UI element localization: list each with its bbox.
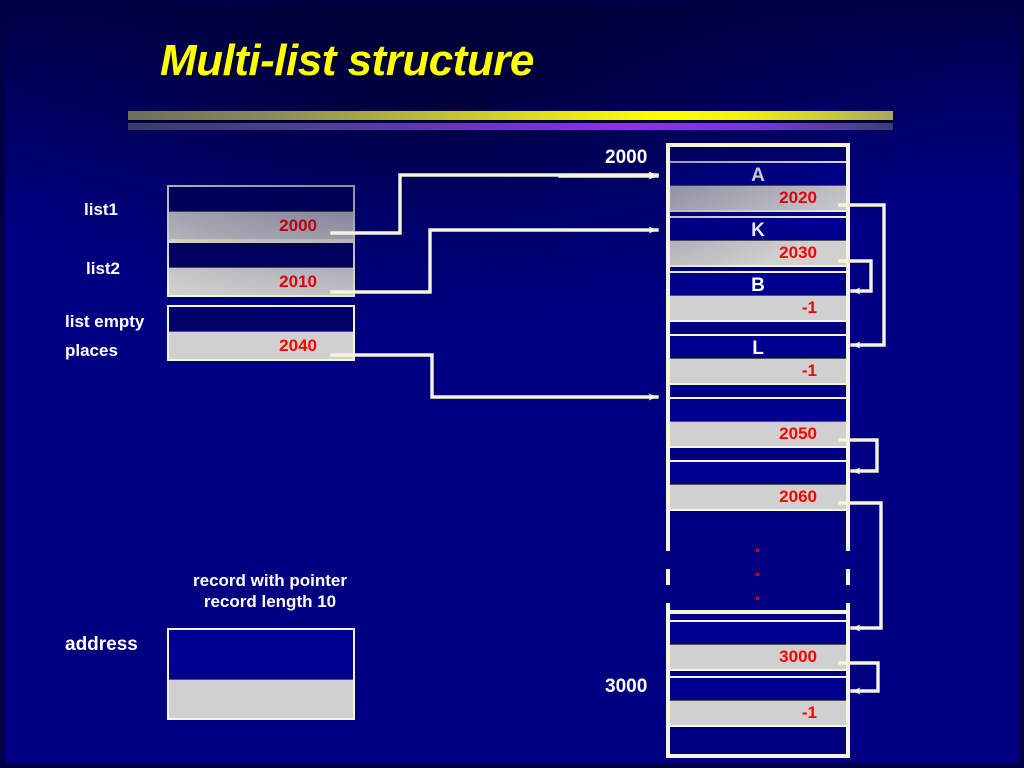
left-label-places: places bbox=[65, 341, 118, 361]
ellipsis-dot-3: · bbox=[745, 586, 771, 612]
column-rail-right-upper bbox=[846, 143, 850, 535]
legend-address-label: address bbox=[65, 634, 138, 656]
ellipsis-dot-2: · bbox=[745, 562, 771, 588]
column-rail-left-dashed bbox=[666, 535, 670, 610]
title-divider bbox=[128, 111, 893, 130]
address-label-3000: 3000 bbox=[605, 676, 647, 698]
page-title: Multi-list structure bbox=[160, 36, 534, 86]
divider-bar-purple bbox=[128, 123, 893, 130]
legend-caption-line2: record length 10 bbox=[160, 591, 380, 612]
slide-canvas: Multi-list structure list1 list2 list em… bbox=[0, 0, 1024, 768]
legend-record-pointer-field bbox=[169, 679, 353, 718]
column-rail-right-lower bbox=[846, 610, 850, 758]
column-rail-right-dashed bbox=[846, 535, 850, 610]
address-label-2000: 2000 bbox=[605, 147, 647, 169]
legend-caption-line1: record with pointer bbox=[160, 570, 380, 591]
left-label-list-empty: list empty bbox=[65, 312, 144, 332]
column-rail-left-lower bbox=[666, 610, 670, 758]
ellipsis-dot-1: · bbox=[745, 538, 771, 564]
legend-caption: record with pointer record length 10 bbox=[160, 570, 380, 612]
legend-record-key-field bbox=[169, 630, 353, 680]
legend-record-box bbox=[167, 628, 355, 720]
left-label-list2: list2 bbox=[86, 259, 120, 279]
column-rail-left-upper bbox=[666, 143, 670, 535]
divider-bar-yellow bbox=[128, 111, 893, 120]
column-cap-top bbox=[666, 143, 850, 147]
column-cap-bottom bbox=[666, 754, 850, 758]
left-label-list1: list1 bbox=[84, 200, 118, 220]
